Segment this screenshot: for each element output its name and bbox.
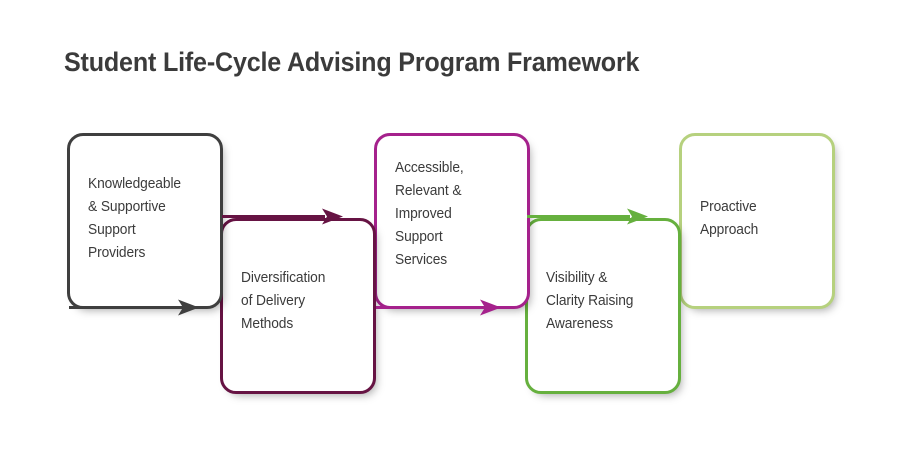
stage-label-5: Proactive Approach [700, 196, 758, 242]
stage-box-4[interactable]: Visibility & Clarity Raising Awareness [525, 218, 681, 394]
stage-label-1: Knowledgeable & Supportive Support Provi… [88, 173, 181, 265]
stage-box-1[interactable]: Knowledgeable & Supportive Support Provi… [67, 133, 223, 309]
stage-label-2: Diversification of Delivery Methods [241, 267, 325, 336]
page-title: Student Life-Cycle Advising Program Fram… [64, 47, 639, 78]
stage-box-3[interactable]: Accessible, Relevant & Improved Support … [374, 133, 530, 309]
stage-box-2[interactable]: Diversification of Delivery Methods [220, 218, 376, 394]
diagram-canvas: Student Life-Cycle Advising Program Fram… [0, 0, 900, 459]
stage-box-5[interactable]: Proactive Approach [679, 133, 835, 309]
stage-label-4: Visibility & Clarity Raising Awareness [546, 267, 633, 336]
stage-label-3: Accessible, Relevant & Improved Support … [395, 157, 464, 272]
